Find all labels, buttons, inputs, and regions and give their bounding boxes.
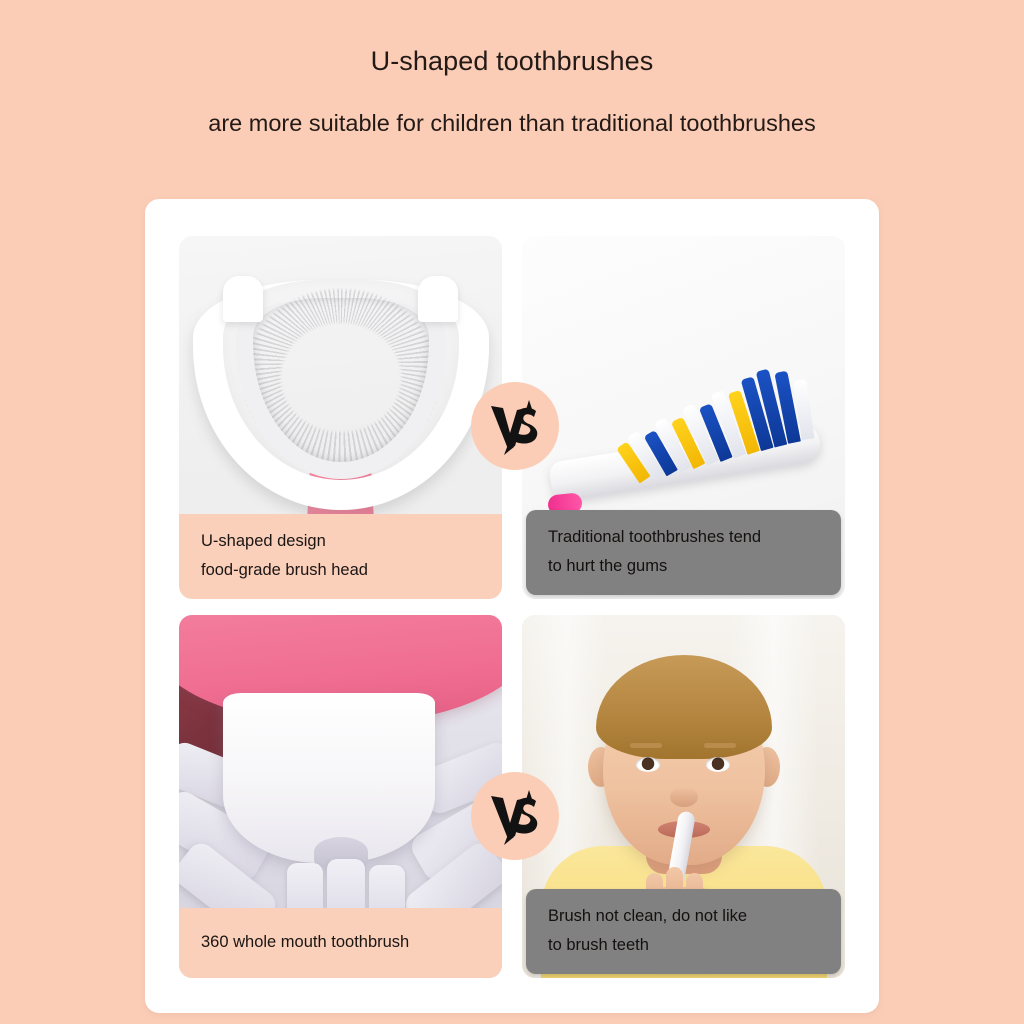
vs-badge-row-2	[471, 772, 559, 860]
caption-line: Traditional toothbrushes tend	[548, 523, 819, 552]
panel-traditional-toothbrush[interactable]: Traditional toothbrushes tend to hurt th…	[522, 236, 845, 599]
headline-line-1: U-shaped toothbrushes	[0, 44, 1024, 78]
eyebrow-left	[630, 743, 662, 748]
u-prong-right	[418, 276, 458, 322]
caption-u-shaped-design: U-shaped design food-grade brush head	[179, 514, 502, 599]
caption-line: to hurt the gums	[548, 552, 819, 581]
caption-360-whole-mouth: 360 whole mouth toothbrush	[179, 908, 502, 978]
caption-line: Brush not clean, do not like	[548, 902, 819, 931]
caption-brush-not-clean: Brush not clean, do not like to brush te…	[526, 889, 841, 974]
caption-traditional-hurts-gums: Traditional toothbrushes tend to hurt th…	[526, 510, 841, 595]
nose	[670, 787, 698, 807]
caption-line: 360 whole mouth toothbrush	[201, 928, 480, 957]
caption-line: to brush teeth	[548, 931, 819, 960]
eye-left	[636, 757, 660, 772]
eye-right	[706, 757, 730, 772]
eyebrow-right	[704, 743, 736, 748]
headline-block: U-shaped toothbrushes are more suitable …	[0, 44, 1024, 138]
panel-360-whole-mouth[interactable]: 360 whole mouth toothbrush	[179, 615, 502, 978]
vs-badge-row-1	[471, 382, 559, 470]
u-prong-left	[223, 276, 263, 322]
headline-line-2: are more suitable for children than trad…	[0, 108, 1024, 138]
caption-line: food-grade brush head	[201, 556, 480, 585]
comparison-card: U-shaped design food-grade brush head	[145, 199, 879, 1013]
comparison-grid: U-shaped design food-grade brush head	[179, 236, 845, 978]
panel-child-brushing-photo[interactable]: Brush not clean, do not like to brush te…	[522, 615, 845, 978]
hair	[596, 655, 772, 759]
panel-u-shaped-brush-head[interactable]: U-shaped design food-grade brush head	[179, 236, 502, 599]
vs-icon	[484, 395, 546, 457]
caption-line: U-shaped design	[201, 527, 480, 556]
vs-icon	[484, 785, 546, 847]
